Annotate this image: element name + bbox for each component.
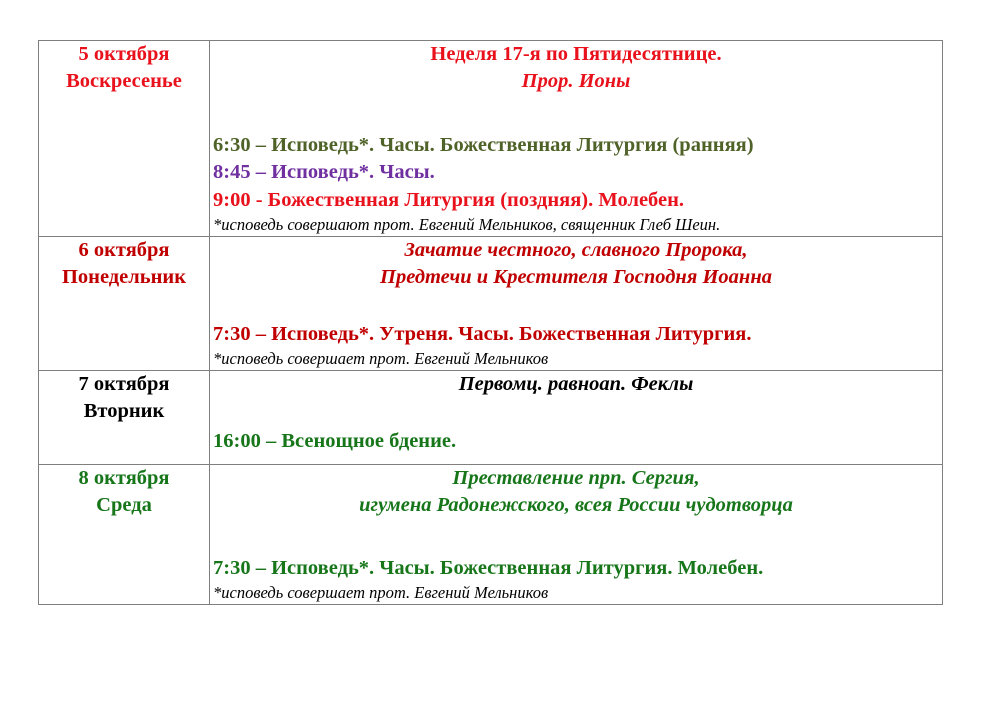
date-day: 8 октября xyxy=(39,465,209,492)
service-line: 6:30 – Исповедь*. Часы. Божественная Лит… xyxy=(210,132,942,160)
service-line: 7:30 – Исповедь*. Утреня. Часы. Божестве… xyxy=(210,321,942,349)
spacer xyxy=(210,291,942,321)
feast-line: Преставление прп. Сергия, xyxy=(210,465,942,492)
spacer xyxy=(210,456,942,464)
table-row: 7 октября Вторник Первомц. равноап. Фекл… xyxy=(39,370,943,464)
service-line: 7:30 – Исповедь*. Часы. Божественная Лит… xyxy=(210,555,942,583)
confession-note: *исповедь совершает прот. Евгений Мельни… xyxy=(210,583,942,604)
spacer xyxy=(210,96,942,132)
content-cell: Преставление прп. Сергия, игумена Радоне… xyxy=(210,464,943,604)
feast-line: Прор. Ионы xyxy=(210,68,942,95)
date-day: 5 октября xyxy=(39,41,209,68)
feast-line: Предтечи и Крестителя Господня Иоанна xyxy=(210,264,942,291)
feast-line: Зачатие честного, славного Пророка, xyxy=(210,237,942,264)
date-day: 7 октября xyxy=(39,371,209,398)
service-line: 8:45 – Исповедь*. Часы. xyxy=(210,159,942,187)
spacer xyxy=(210,519,942,555)
schedule-table-body: 5 октября Воскресенье Неделя 17-я по Пят… xyxy=(39,41,943,605)
date-cell: 6 октября Понедельник xyxy=(39,236,210,370)
service-line: 9:00 - Божественная Литургия (поздняя). … xyxy=(210,187,942,215)
table-row: 5 октября Воскресенье Неделя 17-я по Пят… xyxy=(39,41,943,237)
confession-note: *исповедь совершают прот. Евгений Мельни… xyxy=(210,215,942,236)
service-line: 16:00 – Всенощное бдение. xyxy=(210,428,942,456)
date-cell: 8 октября Среда xyxy=(39,464,210,604)
feast-line: игумена Радонежского, всея России чудотв… xyxy=(210,492,942,519)
table-row: 8 октября Среда Преставление прп. Сергия… xyxy=(39,464,943,604)
date-weekday: Вторник xyxy=(39,398,209,425)
content-cell: Зачатие честного, славного Пророка, Пред… xyxy=(210,236,943,370)
confession-note: *исповедь совершает прот. Евгений Мельни… xyxy=(210,349,942,370)
date-weekday: Понедельник xyxy=(39,264,209,291)
spacer xyxy=(210,398,942,428)
date-weekday: Среда xyxy=(39,492,209,519)
content-cell: Неделя 17-я по Пятидесятнице. Прор. Ионы… xyxy=(210,41,943,237)
table-row: 6 октября Понедельник Зачатие честного, … xyxy=(39,236,943,370)
date-cell: 7 октября Вторник xyxy=(39,370,210,464)
date-weekday: Воскресенье xyxy=(39,68,209,95)
schedule-page: 5 октября Воскресенье Неделя 17-я по Пят… xyxy=(0,0,1000,707)
feast-line: Первомц. равноап. Феклы xyxy=(210,371,942,398)
schedule-table: 5 октября Воскресенье Неделя 17-я по Пят… xyxy=(38,40,943,605)
date-day: 6 октября xyxy=(39,237,209,264)
content-cell: Первомц. равноап. Феклы 16:00 – Всенощно… xyxy=(210,370,943,464)
date-cell: 5 октября Воскресенье xyxy=(39,41,210,237)
feast-line: Неделя 17-я по Пятидесятнице. xyxy=(210,41,942,68)
